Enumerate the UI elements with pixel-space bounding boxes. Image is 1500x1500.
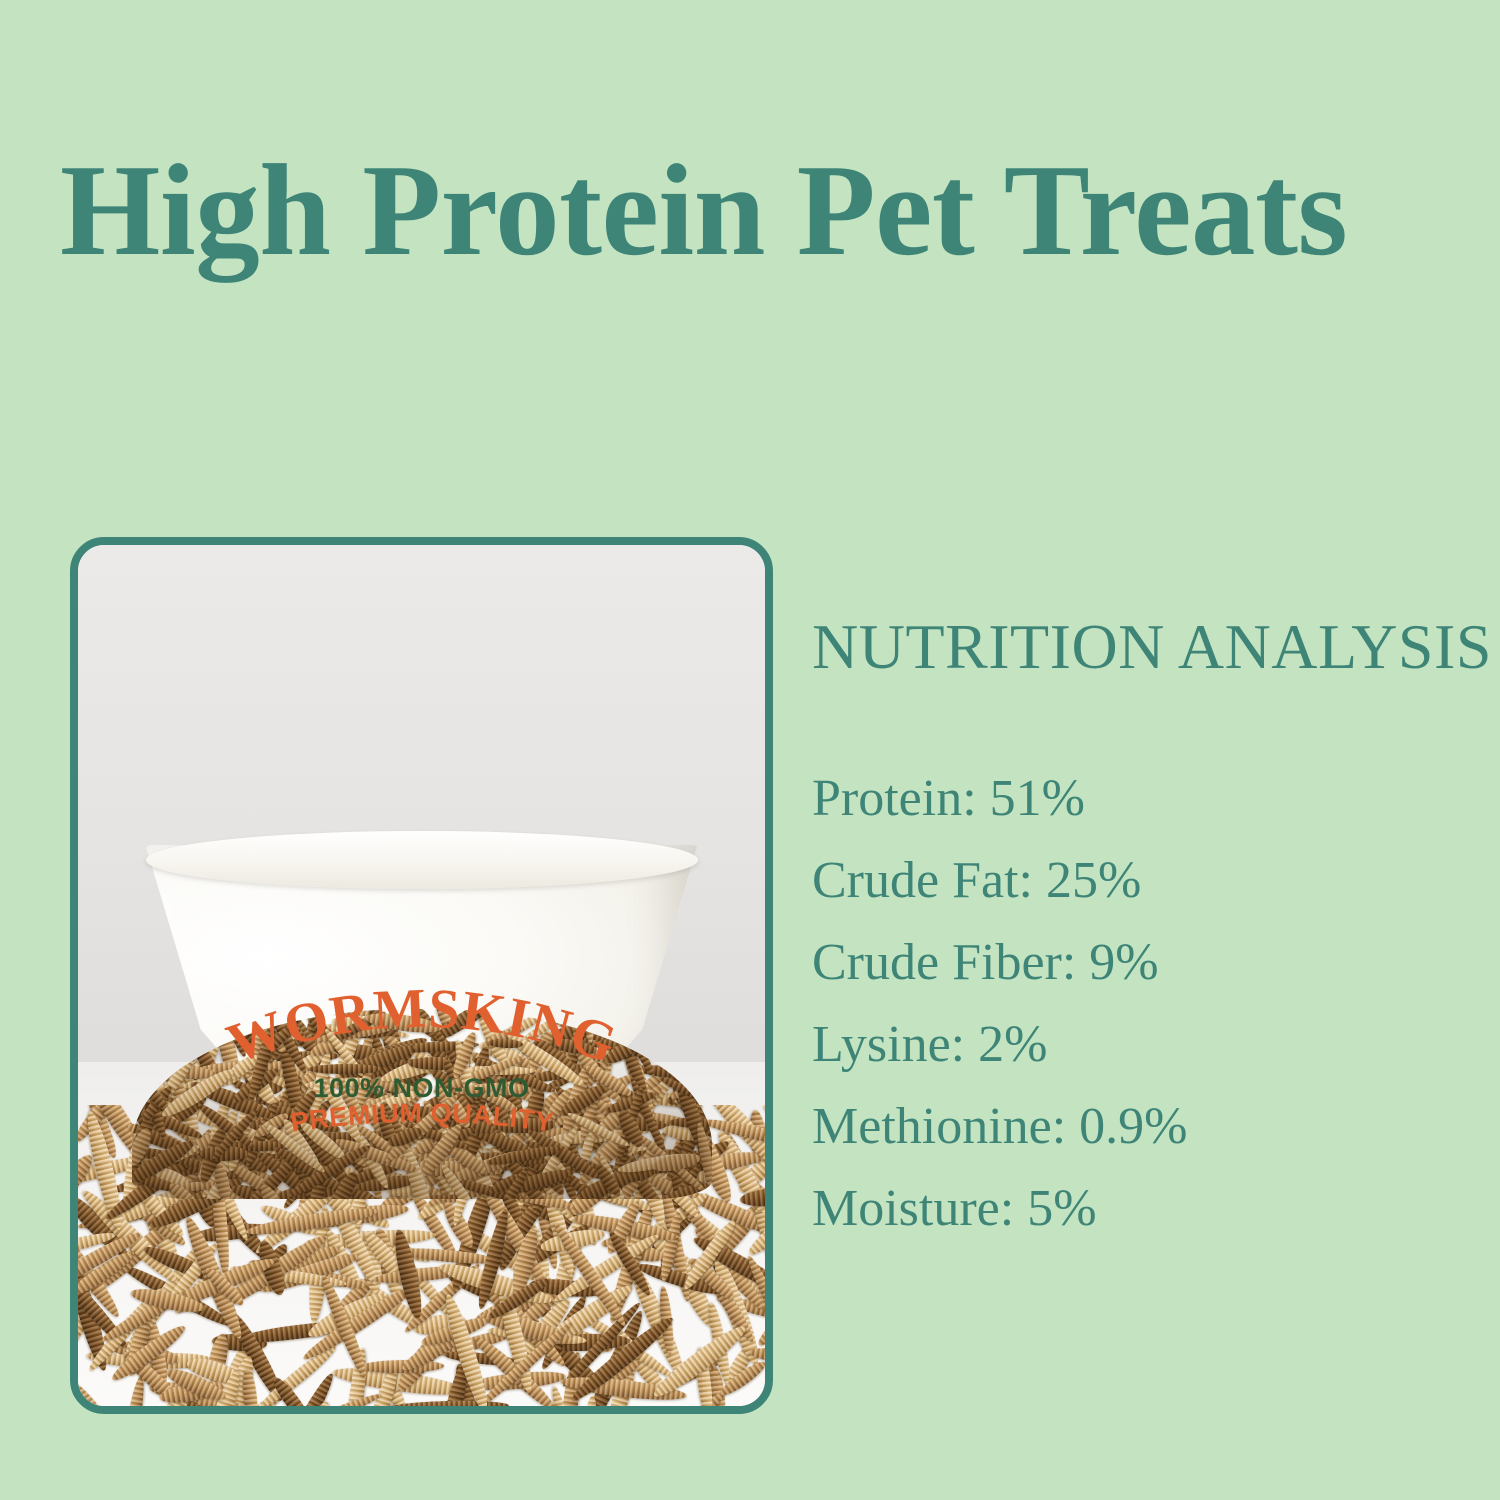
nutrition-item: Crude Fat: 25% bbox=[812, 840, 1462, 922]
nutrition-list: Protein: 51%Crude Fat: 25%Crude Fiber: 9… bbox=[812, 758, 1462, 1250]
nutrition-analysis-panel: NUTRITION ANALYSIS Protein: 51%Crude Fat… bbox=[812, 612, 1462, 1250]
mealworm bbox=[308, 1063, 382, 1073]
nutrition-item: Protein: 51% bbox=[812, 758, 1462, 840]
nutrition-item: Moisture: 5% bbox=[812, 1168, 1462, 1250]
page-title: High Protein Pet Treats bbox=[60, 136, 1439, 286]
mealworm bbox=[241, 1369, 260, 1406]
nutrition-analysis-heading: NUTRITION ANALYSIS bbox=[812, 612, 1462, 682]
nutrition-item: Crude Fiber: 9% bbox=[812, 922, 1462, 1004]
ceramic-bowl: WORMSKING 100% NON-GMO PREMIUM QUALITY bbox=[146, 845, 698, 1175]
nutrition-item: Lysine: 2% bbox=[812, 1004, 1462, 1086]
product-photo: WORMSKING 100% NON-GMO PREMIUM QUALITY bbox=[78, 545, 765, 1406]
product-infographic-poster: High Protein Pet Treats bbox=[0, 0, 1500, 1500]
mealworm bbox=[78, 1378, 132, 1406]
mealworm bbox=[762, 1335, 765, 1406]
nutrition-item: Methionine: 0.9% bbox=[812, 1086, 1462, 1168]
bowl-rim bbox=[146, 831, 698, 889]
product-photo-frame: WORMSKING 100% NON-GMO PREMIUM QUALITY bbox=[70, 537, 773, 1414]
heaped-mealworms bbox=[132, 1009, 712, 1199]
